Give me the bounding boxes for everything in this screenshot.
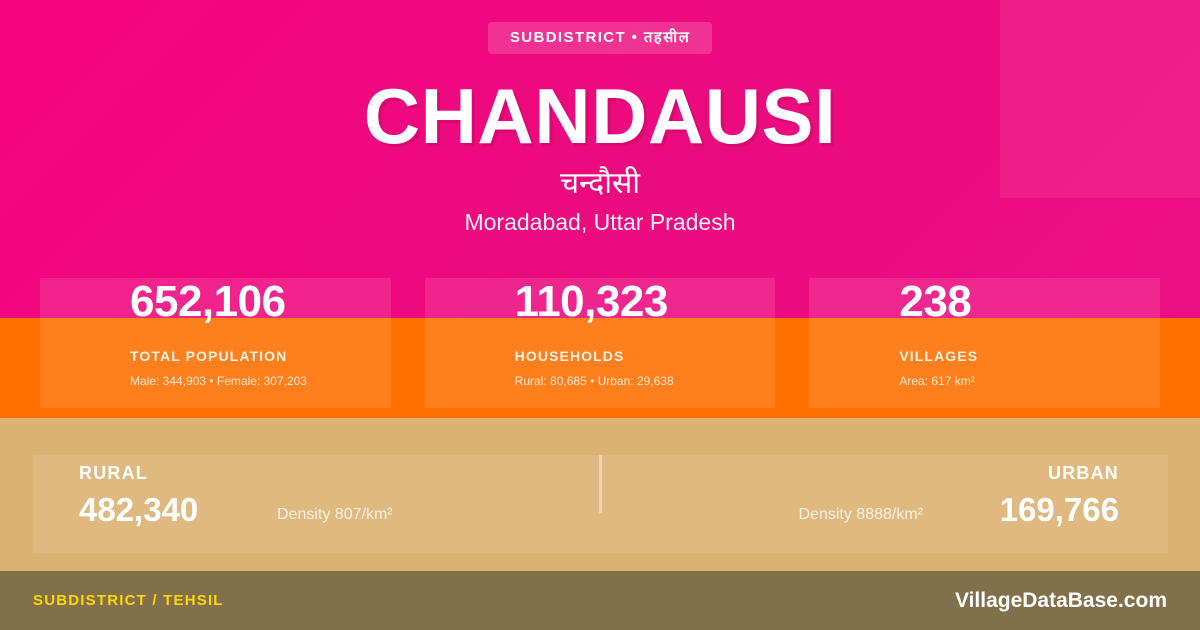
stat-detail: Rural: 80,685 • Urban: 29,638 <box>515 375 776 387</box>
rural-label: RURAL <box>79 464 148 482</box>
urban-density: Density 8888/km² <box>799 507 924 523</box>
rural-density: Density 807/km² <box>277 507 393 523</box>
subdistrict-badge: SUBDISTRICT • तहसील <box>488 22 712 54</box>
footer-brand: VillageDataBase.com <box>955 590 1167 611</box>
stat-card-households: 110,323 HOUSEHOLDS Rural: 80,685 • Urban… <box>425 278 776 408</box>
footer-bar: SUBDISTRICT / TEHSIL VillageDataBase.com <box>0 571 1200 630</box>
rural-value: 482,340 <box>79 493 198 526</box>
hero-section: SUBDISTRICT • तहसील CHANDAUSI चन्दौसी Mo… <box>0 0 1200 318</box>
stat-detail: Area: 617 km² <box>899 375 1160 387</box>
rural-block: RURAL 482,340 <box>79 440 198 526</box>
urban-block: URBAN 169,766 <box>1000 440 1119 526</box>
stat-value: 238 <box>899 280 1160 324</box>
region-label: Moradabad, Uttar Pradesh <box>464 211 735 234</box>
stat-label: HOUSEHOLDS <box>515 349 776 363</box>
stat-label: VILLAGES <box>899 349 1160 363</box>
urban-value: 169,766 <box>1000 493 1119 526</box>
stat-label: TOTAL POPULATION <box>130 349 391 363</box>
infographic-card: SUBDISTRICT • तहसील CHANDAUSI चन्दौसी Mo… <box>0 0 1200 630</box>
stat-detail: Male: 344,903 • Female: 307,203 <box>130 375 391 387</box>
rural-urban-row: RURAL 482,340 URBAN 169,766 <box>0 440 1200 560</box>
stat-card-villages: 238 VILLAGES Area: 617 km² <box>809 278 1160 408</box>
urban-label: URBAN <box>1048 464 1119 482</box>
page-title: CHANDAUSI <box>364 77 837 155</box>
stat-value: 110,323 <box>515 280 776 324</box>
stat-card-total-population: 652,106 TOTAL POPULATION Male: 344,903 •… <box>40 278 391 408</box>
stats-row: 652,106 TOTAL POPULATION Male: 344,903 •… <box>0 278 1200 408</box>
native-name: चन्दौसी <box>560 167 640 202</box>
stat-value: 652,106 <box>130 280 391 324</box>
footer-category: SUBDISTRICT / TEHSIL <box>33 593 224 608</box>
